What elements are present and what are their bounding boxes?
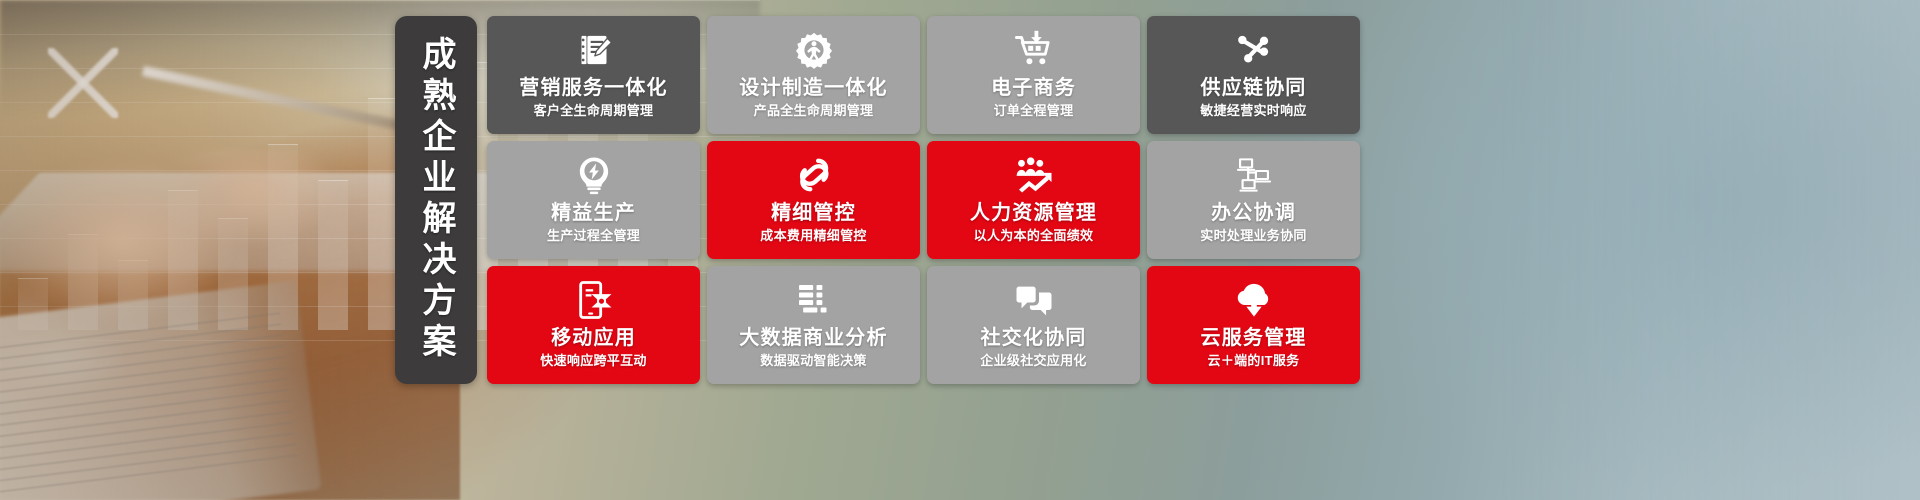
card-subtitle: 以人为本的全面绩效: [974, 229, 1094, 243]
server-database-icon: [794, 280, 834, 320]
card-subtitle: 成本费用精细管控: [760, 229, 866, 243]
card-office-coordination[interactable]: 办公协调实时处理业务协同: [1147, 141, 1360, 259]
solution-card-grid: 营销服务一体化客户全生命周期管理设计制造一体化产品全生命周期管理电子商务订单全程…: [487, 16, 1360, 384]
gear-person-icon: [794, 30, 834, 70]
banner-stage: 成熟企业解决方案 营销服务一体化客户全生命周期管理设计制造一体化产品全生命周期管…: [0, 0, 1920, 500]
card-title: 云服务管理: [1201, 327, 1307, 349]
lightbulb-bolt-icon: [574, 155, 614, 195]
card-fine-grained-control[interactable]: 精细管控成本费用精细管控: [707, 141, 920, 259]
network-nodes-icon: [1234, 30, 1274, 70]
card-big-data-business-analytics[interactable]: 大数据商业分析数据驱动智能决策: [707, 266, 920, 384]
card-title: 精益生产: [551, 202, 636, 224]
card-subtitle: 生产过程全管理: [547, 229, 640, 243]
card-subtitle: 云＋端的IT服务: [1208, 354, 1300, 368]
chain-link-icon: [794, 155, 834, 195]
networked-computers-icon: [1234, 155, 1274, 195]
card-title: 电子商务: [991, 77, 1076, 99]
card-title: 精细管控: [771, 202, 856, 224]
card-marketing-service-integration[interactable]: 营销服务一体化客户全生命周期管理: [487, 16, 700, 134]
card-social-collaboration[interactable]: 社交化协同企业级社交应用化: [927, 266, 1140, 384]
page-title: 成熟企业解决方案: [419, 36, 453, 364]
card-subtitle: 订单全程管理: [994, 104, 1074, 118]
notebook-pencil-icon: [574, 30, 614, 70]
card-title: 移动应用: [551, 327, 636, 349]
card-design-manufacturing-integration[interactable]: 设计制造一体化产品全生命周期管理: [707, 16, 920, 134]
card-subtitle: 产品全生命周期管理: [754, 104, 874, 118]
solutions-panel: 成熟企业解决方案 营销服务一体化客户全生命周期管理设计制造一体化产品全生命周期管…: [395, 16, 1360, 384]
card-subtitle: 企业级社交应用化: [980, 354, 1086, 368]
card-human-resource-management[interactable]: 人力资源管理以人为本的全面绩效: [927, 141, 1140, 259]
card-title: 设计制造一体化: [739, 77, 887, 99]
card-lean-production[interactable]: 精益生产生产过程全管理: [487, 141, 700, 259]
card-cloud-service-management[interactable]: 云服务管理云＋端的IT服务: [1147, 266, 1360, 384]
card-title: 社交化协同: [981, 327, 1087, 349]
cloud-download-icon: [1234, 280, 1274, 320]
card-subtitle: 实时处理业务协同: [1200, 229, 1306, 243]
card-ecommerce[interactable]: 电子商务订单全程管理: [927, 16, 1140, 134]
card-title: 供应链协同: [1201, 77, 1307, 99]
chat-bubbles-icon: [1014, 280, 1054, 320]
card-supply-chain-collaboration[interactable]: 供应链协同敏捷经营实时响应: [1147, 16, 1360, 134]
card-subtitle: 敏捷经营实时响应: [1200, 104, 1306, 118]
card-title: 大数据商业分析: [739, 327, 887, 349]
card-subtitle: 数据驱动智能决策: [760, 354, 866, 368]
card-title: 营销服务一体化: [519, 77, 667, 99]
card-subtitle: 快速响应跨平互动: [540, 354, 646, 368]
shopping-cart-download-icon: [1014, 30, 1054, 70]
card-title: 人力资源管理: [970, 202, 1097, 224]
card-title: 办公协调: [1211, 202, 1296, 224]
people-growth-arrow-icon: [1014, 155, 1054, 195]
card-subtitle: 客户全生命周期管理: [534, 104, 654, 118]
mobile-device-icon: [574, 280, 614, 320]
vertical-title-panel: 成熟企业解决方案: [395, 16, 477, 384]
card-mobile-application[interactable]: 移动应用快速响应跨平互动: [487, 266, 700, 384]
